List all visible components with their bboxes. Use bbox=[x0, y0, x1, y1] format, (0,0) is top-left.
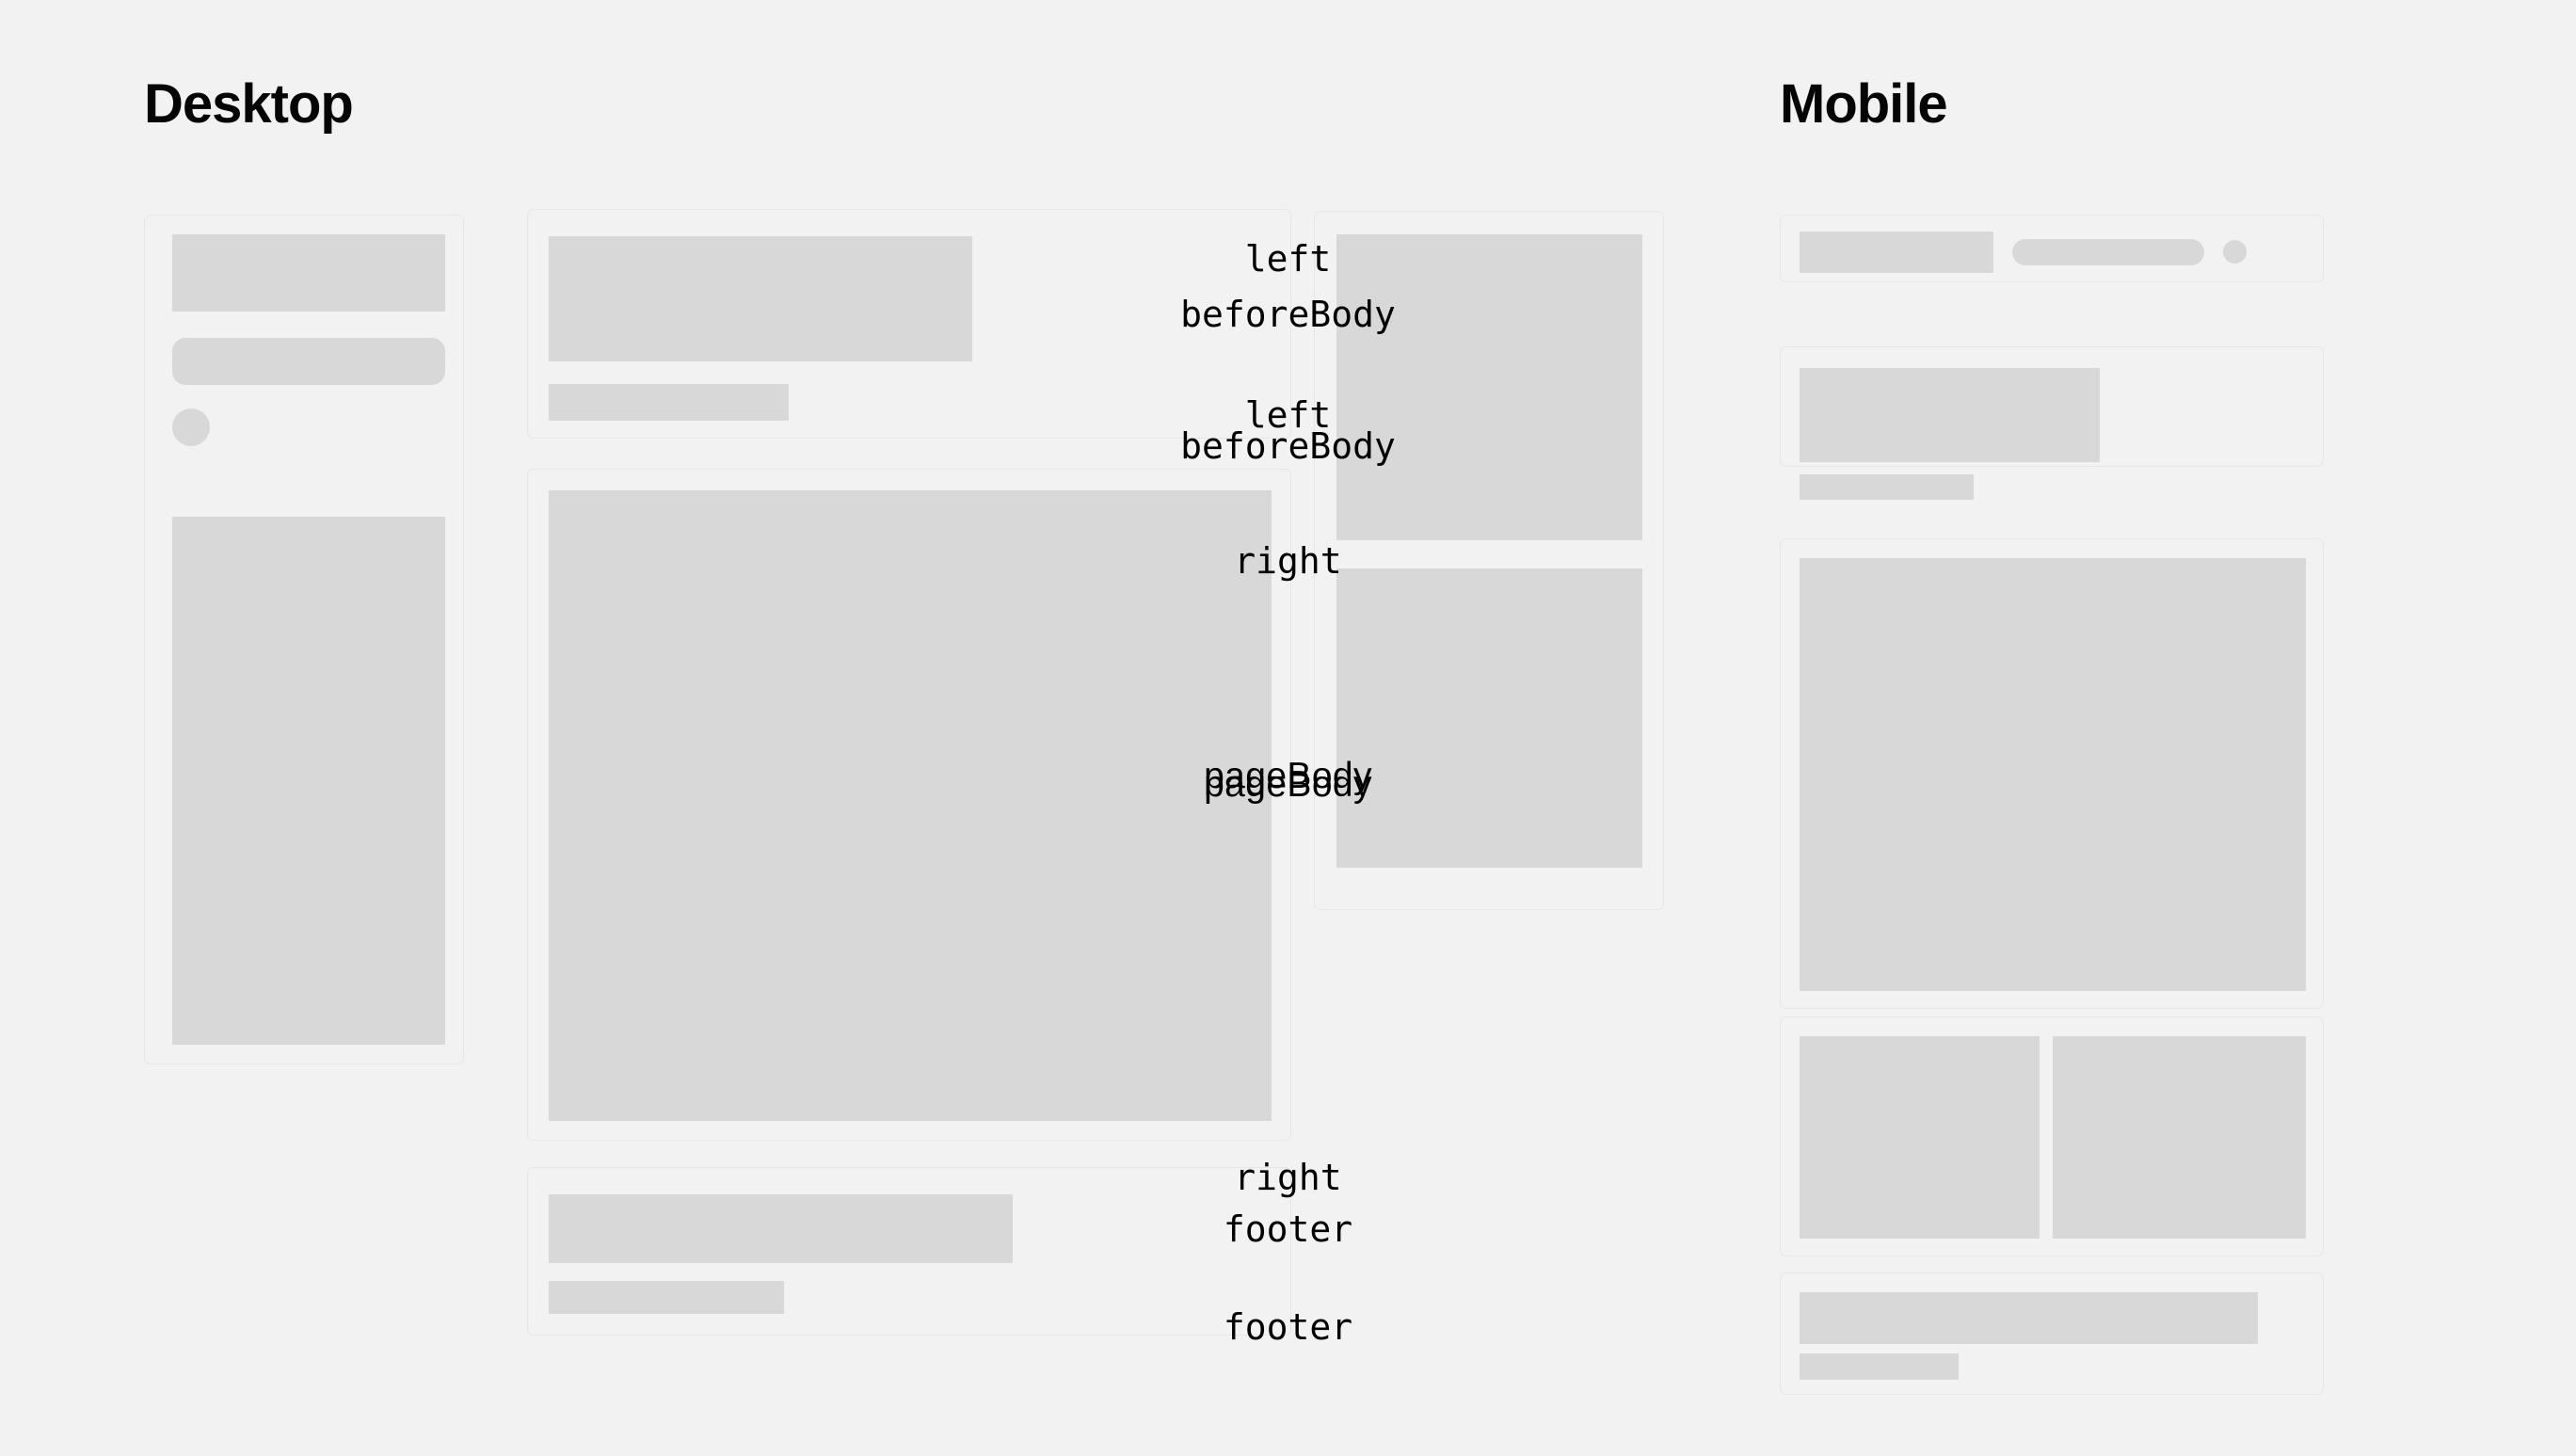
placeholder-block-top bbox=[1336, 234, 1642, 540]
mobile-slot-pagebody[interactable] bbox=[1780, 538, 2324, 1009]
placeholder-block-bottom bbox=[1336, 568, 1642, 868]
placeholder-block-small bbox=[549, 1281, 784, 1314]
mobile-variant-title: Mobile bbox=[1780, 77, 1947, 132]
placeholder-block-tall bbox=[172, 517, 445, 1045]
placeholder-block-small bbox=[1800, 1353, 1959, 1380]
placeholder-block bbox=[1800, 1292, 2258, 1344]
placeholder-block-left bbox=[1800, 1036, 2040, 1239]
placeholder-block-small bbox=[549, 384, 789, 421]
placeholder-block bbox=[1800, 368, 2100, 462]
layout-preview-page: { "page": { "background_color": "#f2f2f2… bbox=[0, 0, 2576, 1456]
desktop-slot-footer[interactable] bbox=[527, 1167, 1291, 1336]
placeholder-block-rounded bbox=[172, 338, 445, 385]
placeholder-block bbox=[549, 236, 972, 361]
desktop-slot-right[interactable] bbox=[1314, 211, 1664, 910]
mobile-slot-left[interactable] bbox=[1780, 215, 2324, 282]
mobile-slot-right[interactable] bbox=[1780, 1016, 2324, 1256]
mobile-slot-beforebody[interactable] bbox=[1780, 346, 2324, 467]
desktop-slot-beforebody[interactable] bbox=[527, 209, 1291, 439]
placeholder-avatar-circle bbox=[2223, 240, 2247, 264]
placeholder-block bbox=[549, 1194, 1013, 1263]
desktop-slot-pagebody[interactable] bbox=[527, 469, 1291, 1141]
desktop-variant-title: Desktop bbox=[144, 77, 353, 132]
mobile-slot-footer[interactable] bbox=[1780, 1272, 2324, 1395]
placeholder-avatar-circle bbox=[172, 408, 210, 446]
desktop-slot-left[interactable] bbox=[144, 215, 464, 1064]
placeholder-block-right bbox=[2053, 1036, 2306, 1239]
placeholder-block-large bbox=[549, 490, 1272, 1121]
placeholder-block bbox=[1800, 232, 1993, 273]
placeholder-block-large bbox=[1800, 558, 2306, 991]
placeholder-block-small bbox=[1800, 474, 1974, 500]
placeholder-block bbox=[172, 234, 445, 312]
placeholder-block-rounded bbox=[2012, 239, 2204, 265]
